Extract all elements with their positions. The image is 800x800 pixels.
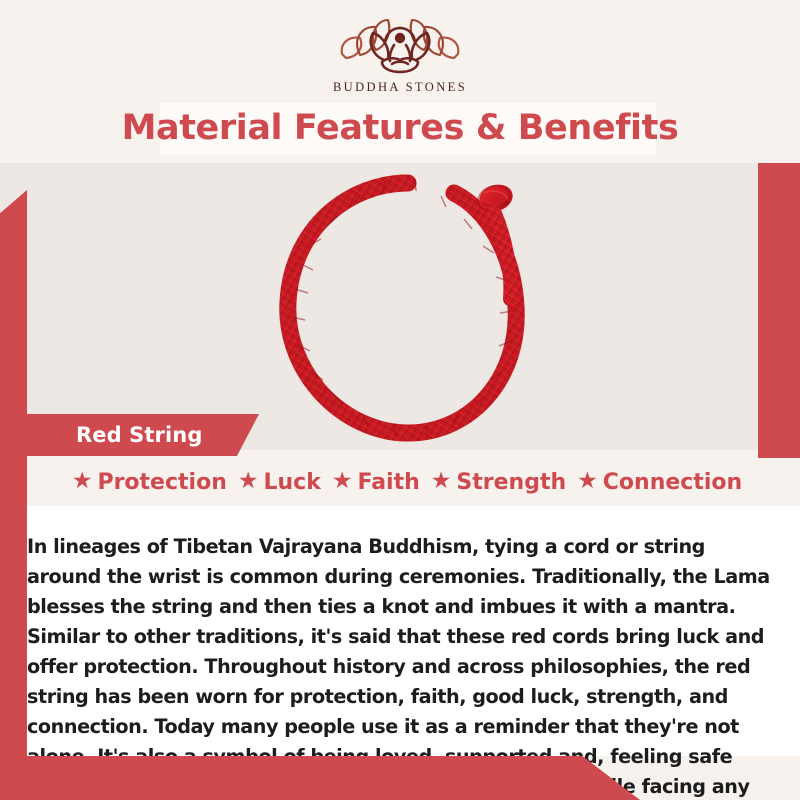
benefit-faith: ★ Faith	[328, 470, 424, 495]
brand-name: BUDDHA STONES	[0, 80, 800, 95]
benefit-connection: ★ Connection	[573, 470, 746, 495]
bottom-accent-band	[0, 756, 640, 800]
benefit-strength: ★ Strength	[427, 470, 570, 495]
benefit-label: Connection	[603, 470, 742, 495]
material-name: Red String	[76, 423, 202, 447]
page-title: Material Features & Benefits	[0, 104, 800, 152]
product-image-panel	[0, 163, 800, 450]
header: BUDDHA STONES Material Features & Benefi…	[0, 0, 800, 163]
star-icon: ★	[431, 470, 452, 493]
star-icon: ★	[577, 470, 598, 493]
red-string-bracelet-image	[258, 169, 558, 449]
benefit-label: Strength	[456, 470, 566, 495]
material-features-infographic: BUDDHA STONES Material Features & Benefi…	[0, 0, 800, 800]
benefit-protection: ★ Protection	[68, 470, 231, 495]
benefit-label: Faith	[357, 470, 419, 495]
star-icon: ★	[332, 470, 353, 493]
brand-logo: BUDDHA STONES	[0, 14, 800, 95]
material-ribbon: Red String	[14, 414, 259, 456]
benefit-luck: ★ Luck	[234, 470, 325, 495]
star-icon: ★	[72, 470, 93, 493]
benefit-label: Protection	[97, 470, 226, 495]
description-panel: In lineages of Tibetan Vajrayana Buddhis…	[0, 506, 800, 756]
lotus-meditation-icon	[334, 14, 466, 76]
benefit-label: Luck	[263, 470, 320, 495]
benefits-list: ★ Protection ★ Luck ★ Faith ★ Strength ★…	[0, 458, 800, 506]
star-icon: ★	[238, 470, 259, 493]
left-accent-strip	[0, 190, 27, 770]
